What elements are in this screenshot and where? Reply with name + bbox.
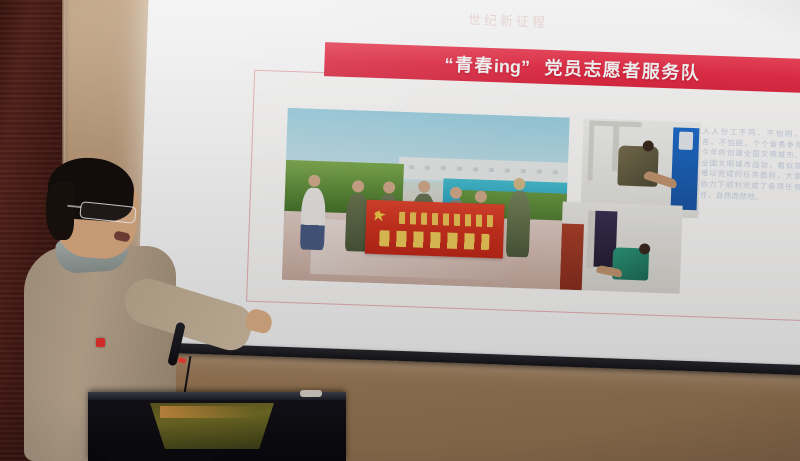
photo-lintel (589, 120, 641, 127)
photo-banner-line-2 (379, 230, 490, 250)
photo-red-wall (560, 224, 584, 291)
banner-title-cn: 青春 (455, 55, 495, 76)
photo-door-frame (588, 120, 595, 180)
photo-blue-kiosk (671, 127, 700, 210)
banner-subtitle: 党员志愿者服务队 (544, 58, 701, 83)
podium (88, 392, 346, 461)
slide-photo-work-bottom (560, 202, 683, 294)
banner-quote-close: ” (521, 57, 532, 77)
photo-red-banner (365, 200, 505, 258)
photo-person-head (418, 181, 430, 193)
slide-title-text: “青春ing” 党员志愿者服务队 (444, 50, 701, 85)
photo-worker-head (643, 140, 654, 151)
speaker-hair-side (46, 182, 74, 240)
photo-worker-head (639, 243, 650, 254)
slide-photo-group (282, 108, 570, 290)
slide-content-frame: 人人分工不同、不怕明，不怕苦，不怕脏，个个奋勇争先。在今年的创建全国文明城市、争… (246, 70, 800, 322)
photo-banner-line-1 (399, 212, 493, 227)
banner-title-en: ing (494, 56, 522, 77)
banner-quote-open: “ (444, 54, 455, 74)
photo-scene: 世纪新征程 (0, 0, 800, 461)
podium-base (108, 452, 212, 461)
photo-person (506, 191, 531, 258)
slide-body-text: 人人分工不同、不怕明，不怕苦，不怕脏，个个奋勇争先。在今年的创建全国文明城市、争… (700, 126, 800, 204)
podium-reflective-panel (150, 403, 274, 449)
podium-object (300, 390, 322, 397)
photo-person (300, 187, 326, 250)
party-pin-icon (96, 338, 105, 347)
party-emblem-icon (373, 209, 387, 223)
